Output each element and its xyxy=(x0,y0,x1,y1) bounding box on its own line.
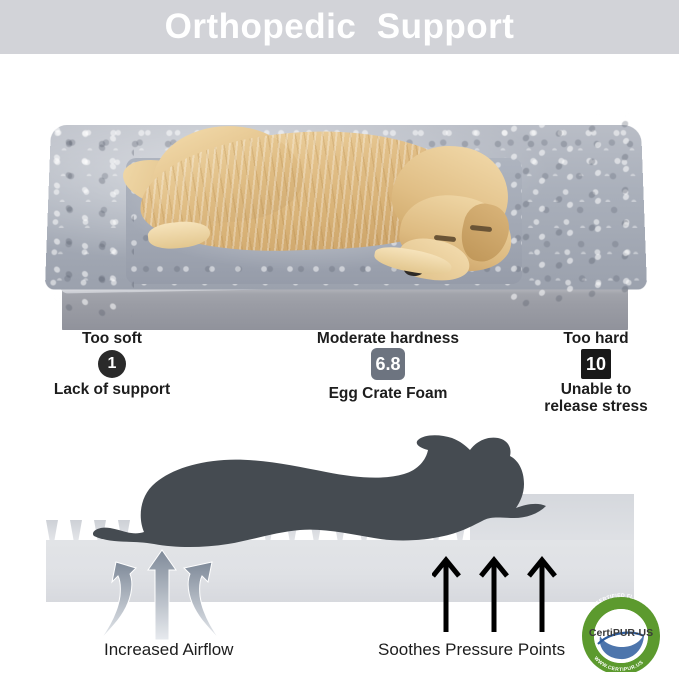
increased-airflow-arrows xyxy=(100,544,240,644)
hardness-stop-too-soft: Too soft 1 Lack of support xyxy=(22,330,202,398)
hardness-badge-row: 1 xyxy=(22,347,202,381)
hardness-stop-bottom-label: Egg Crate Foam xyxy=(288,385,488,402)
bed-right-bolster xyxy=(505,103,633,311)
page-title: Orthopedic Support xyxy=(0,0,679,54)
hardness-stop-bottom-label: Lack of support xyxy=(22,381,202,398)
hardness-stop-top-label: Moderate hardness xyxy=(288,330,488,347)
airflow-arrow-center xyxy=(148,550,176,640)
hardness-badge-1: 1 xyxy=(98,350,126,378)
product-photo xyxy=(0,54,679,330)
caption-soothes-pressure-points: Soothes Pressure Points xyxy=(378,640,565,660)
dog-silhouette xyxy=(88,432,596,558)
infographic-canvas: Orthopedic Support xyxy=(0,0,679,673)
hardness-stop-moderate: Moderate hardness 6.8 Egg Crate Foam xyxy=(288,330,488,402)
certipur-wordmark: CertiPUR-US xyxy=(589,627,653,639)
hardness-badge-row: 6.8 xyxy=(288,347,488,381)
hardness-badge-row: 10 xyxy=(520,347,672,381)
airflow-arrow-left xyxy=(100,562,136,640)
hardness-stop-bottom-label-line2: release stress xyxy=(520,398,672,415)
hardness-badge-10: 10 xyxy=(581,349,611,379)
hardness-stop-too-hard: Too hard 10 Unable to release stress xyxy=(520,330,672,415)
certipur-us-logo: CONTAINS CERTIFIED FLEXIBLE POLYURETHANE… xyxy=(570,592,672,672)
hardness-stop-bottom-label-line1: Unable to xyxy=(520,381,672,398)
product-photo-scene xyxy=(0,54,679,330)
hardness-scale: Too soft 1 Lack of support Moderate hard… xyxy=(0,330,679,422)
hardness-stop-top-label: Too soft xyxy=(22,330,202,347)
hardness-stop-top-label: Too hard xyxy=(520,330,672,347)
soothes-pressure-arrows xyxy=(432,554,562,634)
hardness-badge-68: 6.8 xyxy=(371,348,405,380)
bed-left-bolster xyxy=(48,119,134,323)
airflow-arrow-right xyxy=(184,562,220,640)
caption-increased-airflow: Increased Airflow xyxy=(104,640,233,660)
